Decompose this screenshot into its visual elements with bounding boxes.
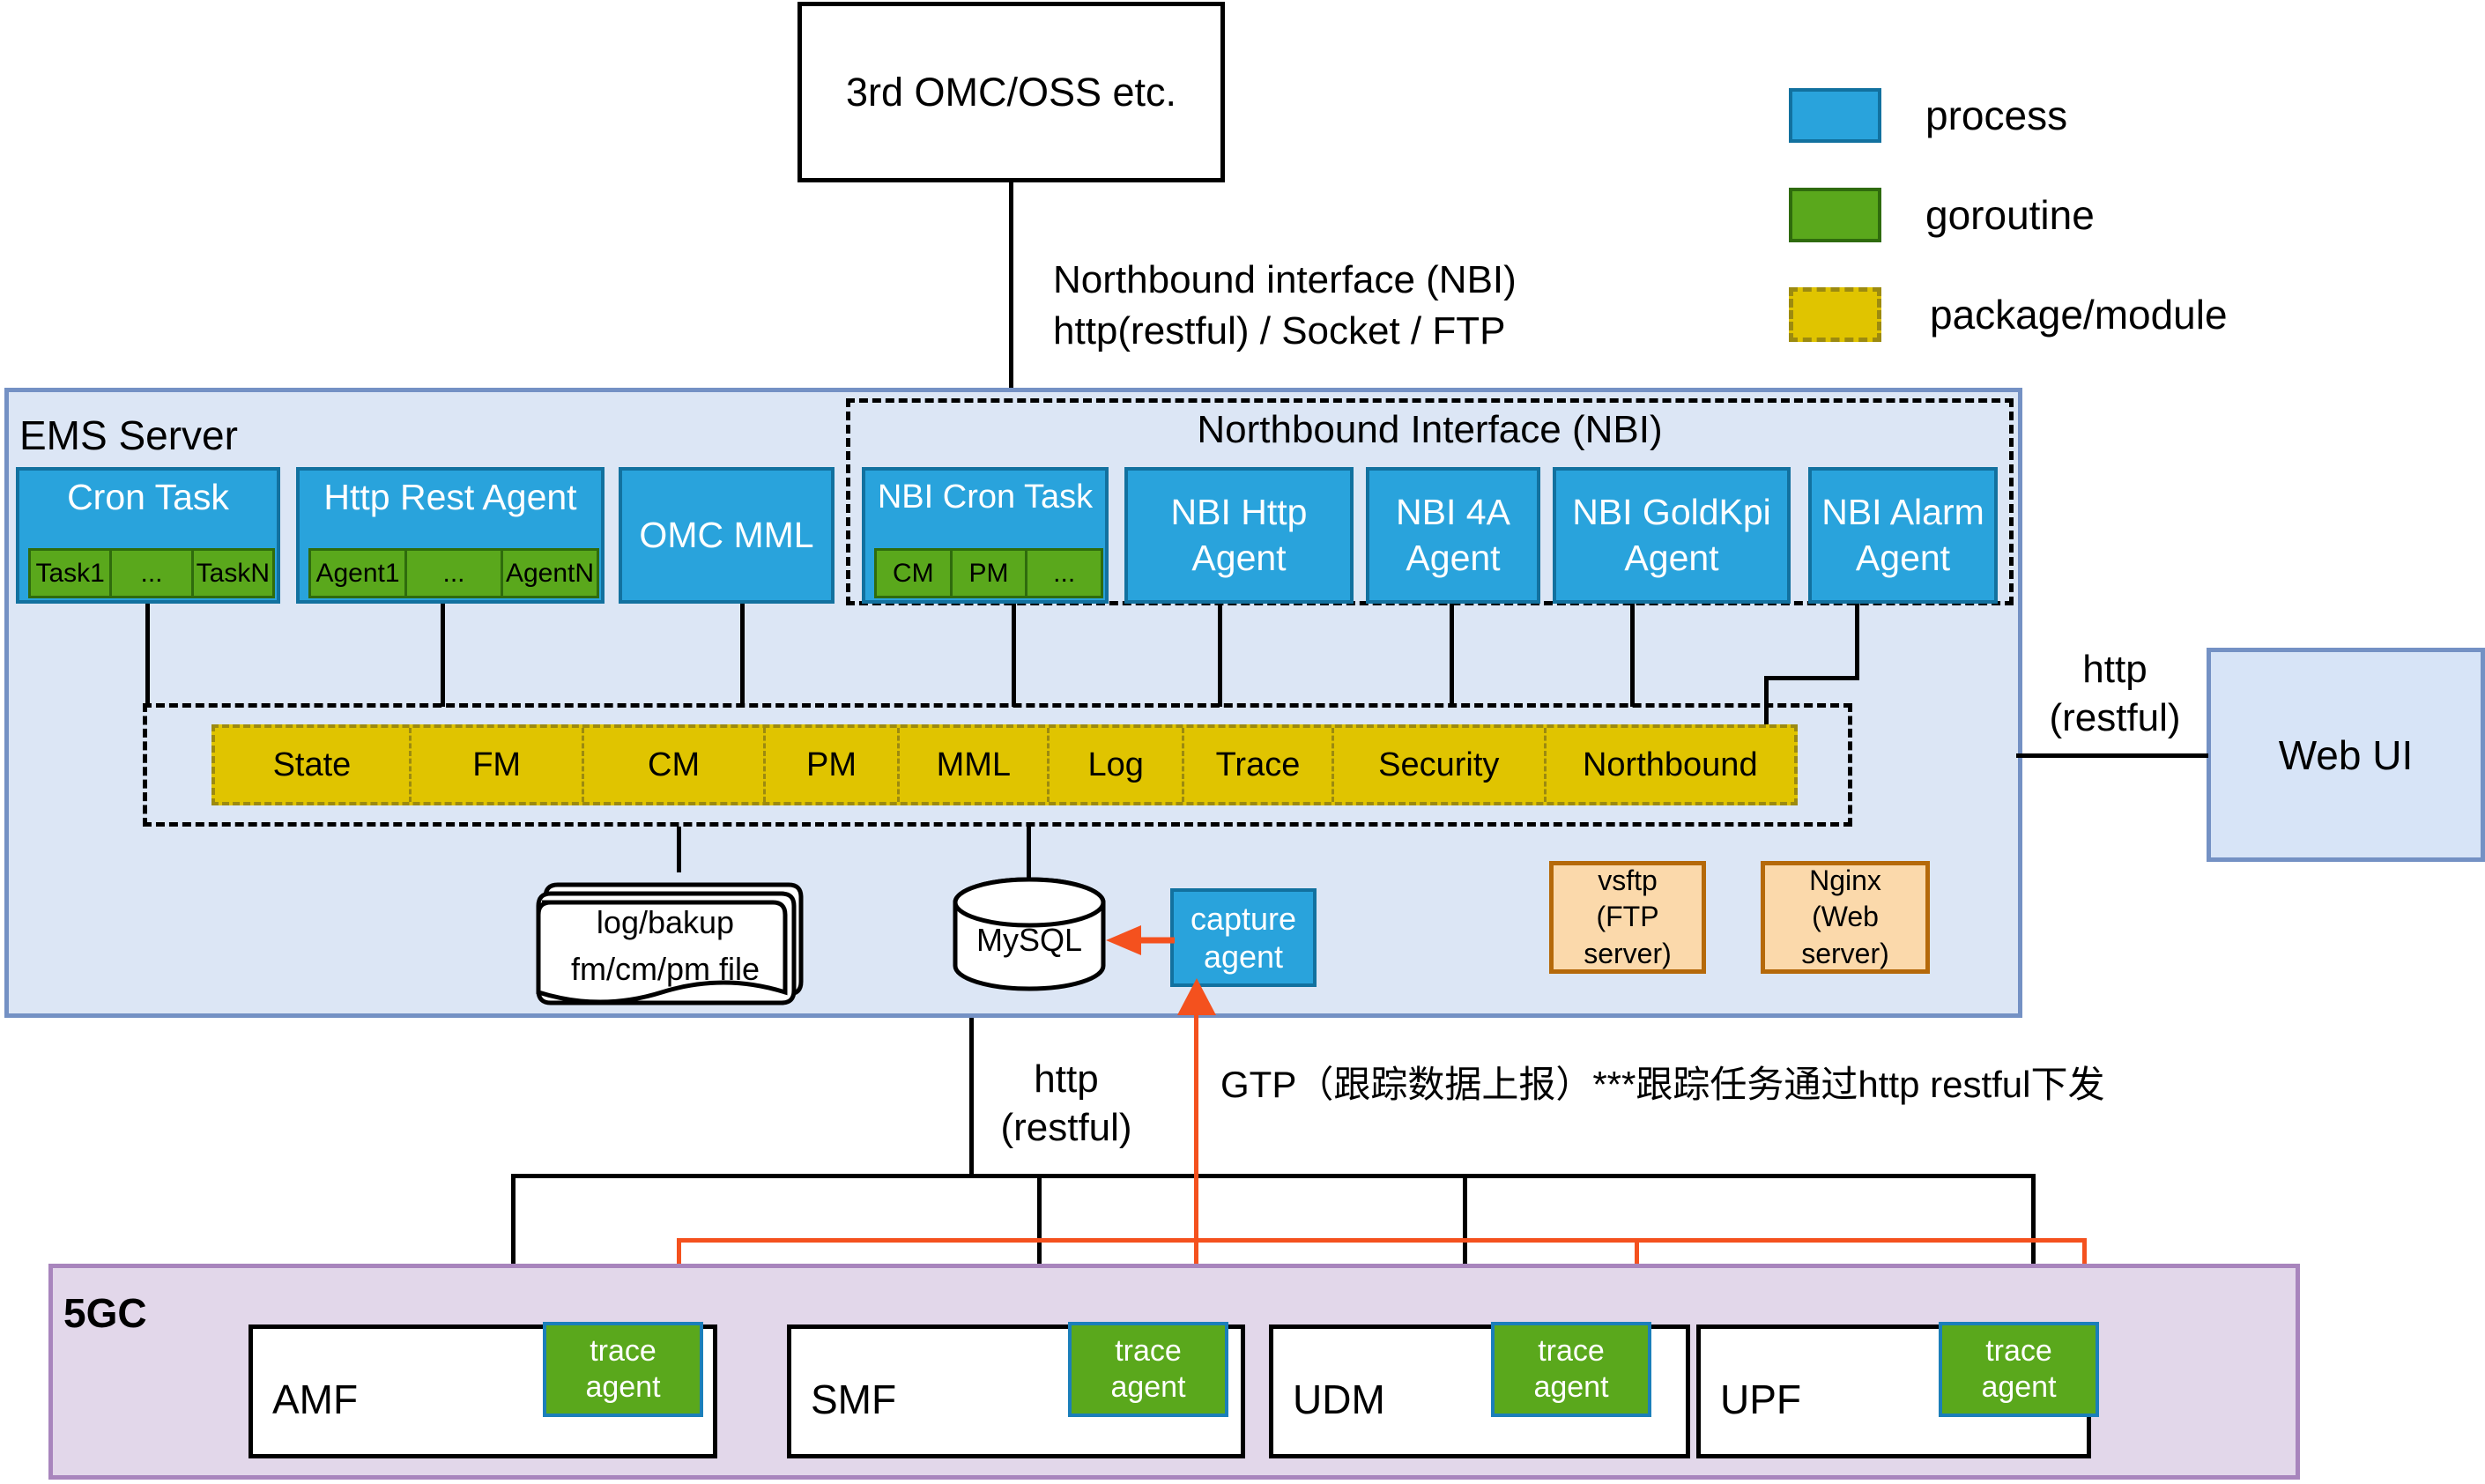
connector-ems-to-5gc-trunk [969, 1018, 974, 1176]
goroutine-task1[interactable]: Task1 [28, 548, 112, 598]
file-store-label-line1: log/bakup [542, 903, 789, 940]
process-nbi-cron-task-label: NBI Cron Task [865, 471, 1105, 523]
connector-nbi-4a-agent-to-modules [1450, 604, 1454, 707]
legend-label-package-module: package/module [1930, 290, 2228, 341]
nf-smf-label: SMF [811, 1375, 896, 1426]
legend-item-package-module: package/module [1789, 287, 2441, 349]
trace-agent-udm[interactable]: trace agent [1491, 1322, 1651, 1417]
goroutine-pm[interactable]: PM [953, 548, 1028, 598]
gtp-trace-note: GTP（跟踪数据上报）***跟踪任务通过http restful下发 [1220, 1062, 2104, 1109]
arrow-gtp-trace-to-capture-agent [1170, 978, 1223, 1031]
process-nbi-goldkpi-agent-label: NBI GoldKpi Agent [1556, 490, 1787, 581]
trace-agent-udm-label-line1: trace [1538, 1333, 1605, 1369]
module-pm[interactable]: PM [766, 728, 901, 802]
process-nbi-http-agent[interactable]: NBI Http Agent [1124, 467, 1354, 604]
web-ui-label: Web UI [2279, 731, 2414, 779]
server-vsftp-label-line2: (FTP server) [1554, 899, 1702, 972]
trace-agent-smf[interactable]: trace agent [1068, 1322, 1228, 1417]
trace-agent-smf-label-line2: agent [1110, 1369, 1185, 1406]
connector-nbi-alarm-agent-segment-vertical-top [1855, 604, 1859, 680]
legend-label-goroutine: goroutine [1925, 190, 2095, 241]
connector-oss-to-ems [1009, 182, 1013, 392]
goroutine-row-http-rest-agent: Agent1 ... AgentN [308, 548, 599, 598]
connector-cron-task-to-modules [145, 604, 150, 707]
process-cron-task-label: Cron Task [19, 471, 277, 523]
module-security[interactable]: Security [1334, 728, 1547, 802]
module-trace[interactable]: Trace [1184, 728, 1334, 802]
ems-to-5gc-label-line1: http [987, 1057, 1146, 1100]
connector-nbi-alarm-agent-segment-horizontal [1764, 676, 1859, 680]
process-nbi-alarm-agent-label: NBI Alarm Agent [1812, 490, 1994, 581]
ems-to-5gc-label-line2: (restful) [987, 1106, 1146, 1148]
server-nginx-label-line2: (Web server) [1765, 899, 1925, 972]
process-nbi-alarm-agent[interactable]: NBI Alarm Agent [1808, 467, 1998, 604]
process-http-rest-agent-label: Http Rest Agent [300, 471, 601, 523]
module-bar: State FM CM PM MML Log Trace Security No… [211, 724, 1798, 805]
trace-agent-upf-label-line1: trace [1985, 1333, 2052, 1369]
core-5gc-title: 5GC [63, 1288, 147, 1339]
goroutine-agentn[interactable]: AgentN [503, 548, 599, 598]
mysql-label: MySQL [950, 921, 1109, 958]
nbi-link-label-line1: Northbound interface (NBI) [1053, 256, 1517, 304]
connector-nbi-goldkpi-agent-to-modules [1630, 604, 1635, 707]
goroutine-task-ellipsis: ... [112, 548, 193, 598]
goroutine-agent-ellipsis: ... [407, 548, 503, 598]
web-ui-link-label-line1: http [2027, 648, 2203, 690]
trace-agent-upf-label-line2: agent [1981, 1369, 2056, 1406]
legend-item-process: process [1789, 88, 2441, 150]
connector-nbi-cron-task-to-modules [1012, 604, 1016, 707]
connector-nbi-http-agent-to-modules [1218, 604, 1222, 707]
third-party-omc-oss-label: 3rd OMC/OSS etc. [846, 70, 1176, 115]
ems-server-title: EMS Server [19, 411, 238, 462]
nf-amf-label: AMF [272, 1375, 358, 1426]
nf-upf-label: UPF [1720, 1375, 1801, 1426]
arrow-capture-agent-to-mysql [1106, 923, 1265, 958]
process-nbi-4a-agent[interactable]: NBI 4A Agent [1366, 467, 1540, 604]
legend-label-process: process [1925, 91, 2067, 142]
connector-omc-mml-to-modules [740, 604, 745, 707]
file-store-label-line2: fm/cm/pm file [542, 950, 789, 987]
trace-agent-amf[interactable]: trace agent [543, 1322, 703, 1417]
process-nbi-cron-task[interactable]: NBI Cron Task CM PM ... [862, 467, 1109, 604]
module-log[interactable]: Log [1050, 728, 1184, 802]
legend-swatch-goroutine [1789, 188, 1881, 242]
nf-udm-label: UDM [1293, 1375, 1385, 1426]
legend-swatch-package-module [1789, 287, 1881, 342]
connector-trace-bus-horizontal [677, 1238, 2087, 1243]
connector-modules-to-mysql [1027, 827, 1031, 879]
legend: process goroutine package/module [1789, 88, 2459, 326]
goroutine-row-nbi-cron-task: CM PM ... [874, 548, 1103, 598]
process-cron-task[interactable]: Cron Task Task1 ... TaskN [16, 467, 280, 604]
web-ui-box[interactable]: Web UI [2207, 648, 2485, 862]
web-ui-link-label-line2: (restful) [2027, 696, 2203, 738]
legend-item-goroutine: goroutine [1789, 188, 2441, 249]
module-state[interactable]: State [215, 728, 412, 802]
module-northbound[interactable]: Northbound [1547, 728, 1794, 802]
process-omc-mml-label: OMC MML [639, 515, 813, 556]
process-nbi-goldkpi-agent[interactable]: NBI GoldKpi Agent [1553, 467, 1791, 604]
trace-agent-upf[interactable]: trace agent [1939, 1322, 2099, 1417]
process-omc-mml[interactable]: OMC MML [619, 467, 835, 604]
trace-agent-amf-label-line2: agent [585, 1369, 660, 1406]
nbi-link-label-line2: http(restful) / Socket / FTP [1053, 307, 1505, 355]
trace-agent-amf-label-line1: trace [590, 1333, 656, 1369]
connector-ems-to-web-ui [2016, 753, 2208, 758]
connector-5gc-bus-horizontal [511, 1174, 2036, 1178]
connector-http-rest-agent-to-modules [441, 604, 445, 707]
process-nbi-4a-agent-label: NBI 4A Agent [1369, 490, 1537, 581]
server-nginx-label-line1: Nginx [1809, 863, 1881, 900]
server-vsftp[interactable]: vsftp (FTP server) [1549, 861, 1706, 974]
goroutine-taskn[interactable]: TaskN [194, 548, 275, 598]
module-mml[interactable]: MML [900, 728, 1050, 802]
legend-swatch-process [1789, 88, 1881, 143]
process-http-rest-agent[interactable]: Http Rest Agent Agent1 ... AgentN [296, 467, 605, 604]
goroutine-row-cron-task: Task1 ... TaskN [28, 548, 275, 598]
process-nbi-http-agent-label: NBI Http Agent [1128, 490, 1350, 581]
server-nginx[interactable]: Nginx (Web server) [1761, 861, 1930, 974]
server-vsftp-label-line1: vsftp [1598, 863, 1658, 900]
module-cm[interactable]: CM [584, 728, 765, 802]
trace-agent-smf-label-line1: trace [1115, 1333, 1182, 1369]
goroutine-nbi-ellipsis: ... [1027, 548, 1103, 598]
nbi-group-title: Northbound Interface (NBI) [846, 407, 2014, 451]
module-fm[interactable]: FM [412, 728, 585, 802]
goroutine-agent1[interactable]: Agent1 [308, 548, 407, 598]
third-party-omc-oss-box: 3rd OMC/OSS etc. [797, 2, 1225, 182]
goroutine-cm[interactable]: CM [874, 548, 953, 598]
trace-agent-udm-label-line2: agent [1533, 1369, 1608, 1406]
